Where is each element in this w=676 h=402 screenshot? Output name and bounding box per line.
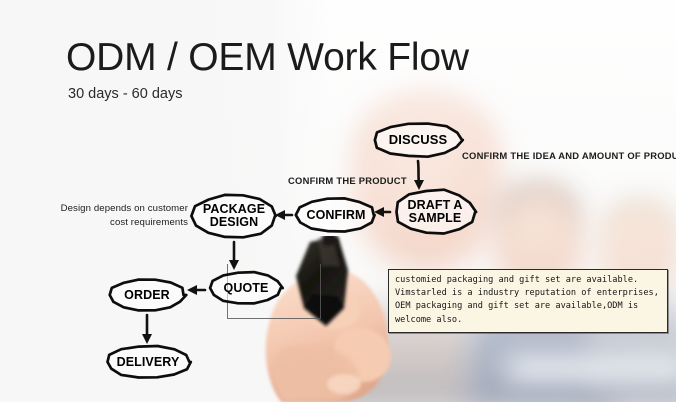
flow-node-label: QUOTE [224, 282, 269, 295]
flow-node-package-design[interactable]: PACKAGEDESIGN [190, 192, 278, 240]
flow-node-label: ORDER [124, 289, 170, 302]
flow-node-order[interactable]: ORDER [107, 277, 187, 313]
callout-text: customied packaging and gift set are ava… [395, 274, 662, 327]
flow-node-label: CONFIRM [306, 209, 365, 222]
flow-node-label: DELIVERY [117, 356, 180, 369]
arrowhead-quote-order [187, 285, 197, 295]
flow-node-discuss[interactable]: DISCUSS [372, 121, 464, 159]
workflow-poster: ODM / OEM Work Flow 30 days - 60 days CO… [0, 0, 676, 402]
flow-node-quote[interactable]: QUOTE [208, 270, 284, 306]
flow-node-label: DISCUSS [389, 133, 448, 146]
flow-node-label: DRAFT ASAMPLE [407, 199, 462, 225]
arrowhead-package-quote [229, 260, 239, 270]
arrowhead-order-delivery [142, 334, 152, 344]
flow-node-delivery[interactable]: DELIVERY [104, 344, 192, 380]
callout-box: customied packaging and gift set are ava… [388, 269, 668, 333]
flow-node-draft-a-sample[interactable]: DRAFT ASAMPLE [393, 188, 477, 236]
flow-node-label: PACKAGEDESIGN [203, 203, 265, 229]
flow-node-confirm[interactable]: CONFIRM [295, 196, 377, 234]
